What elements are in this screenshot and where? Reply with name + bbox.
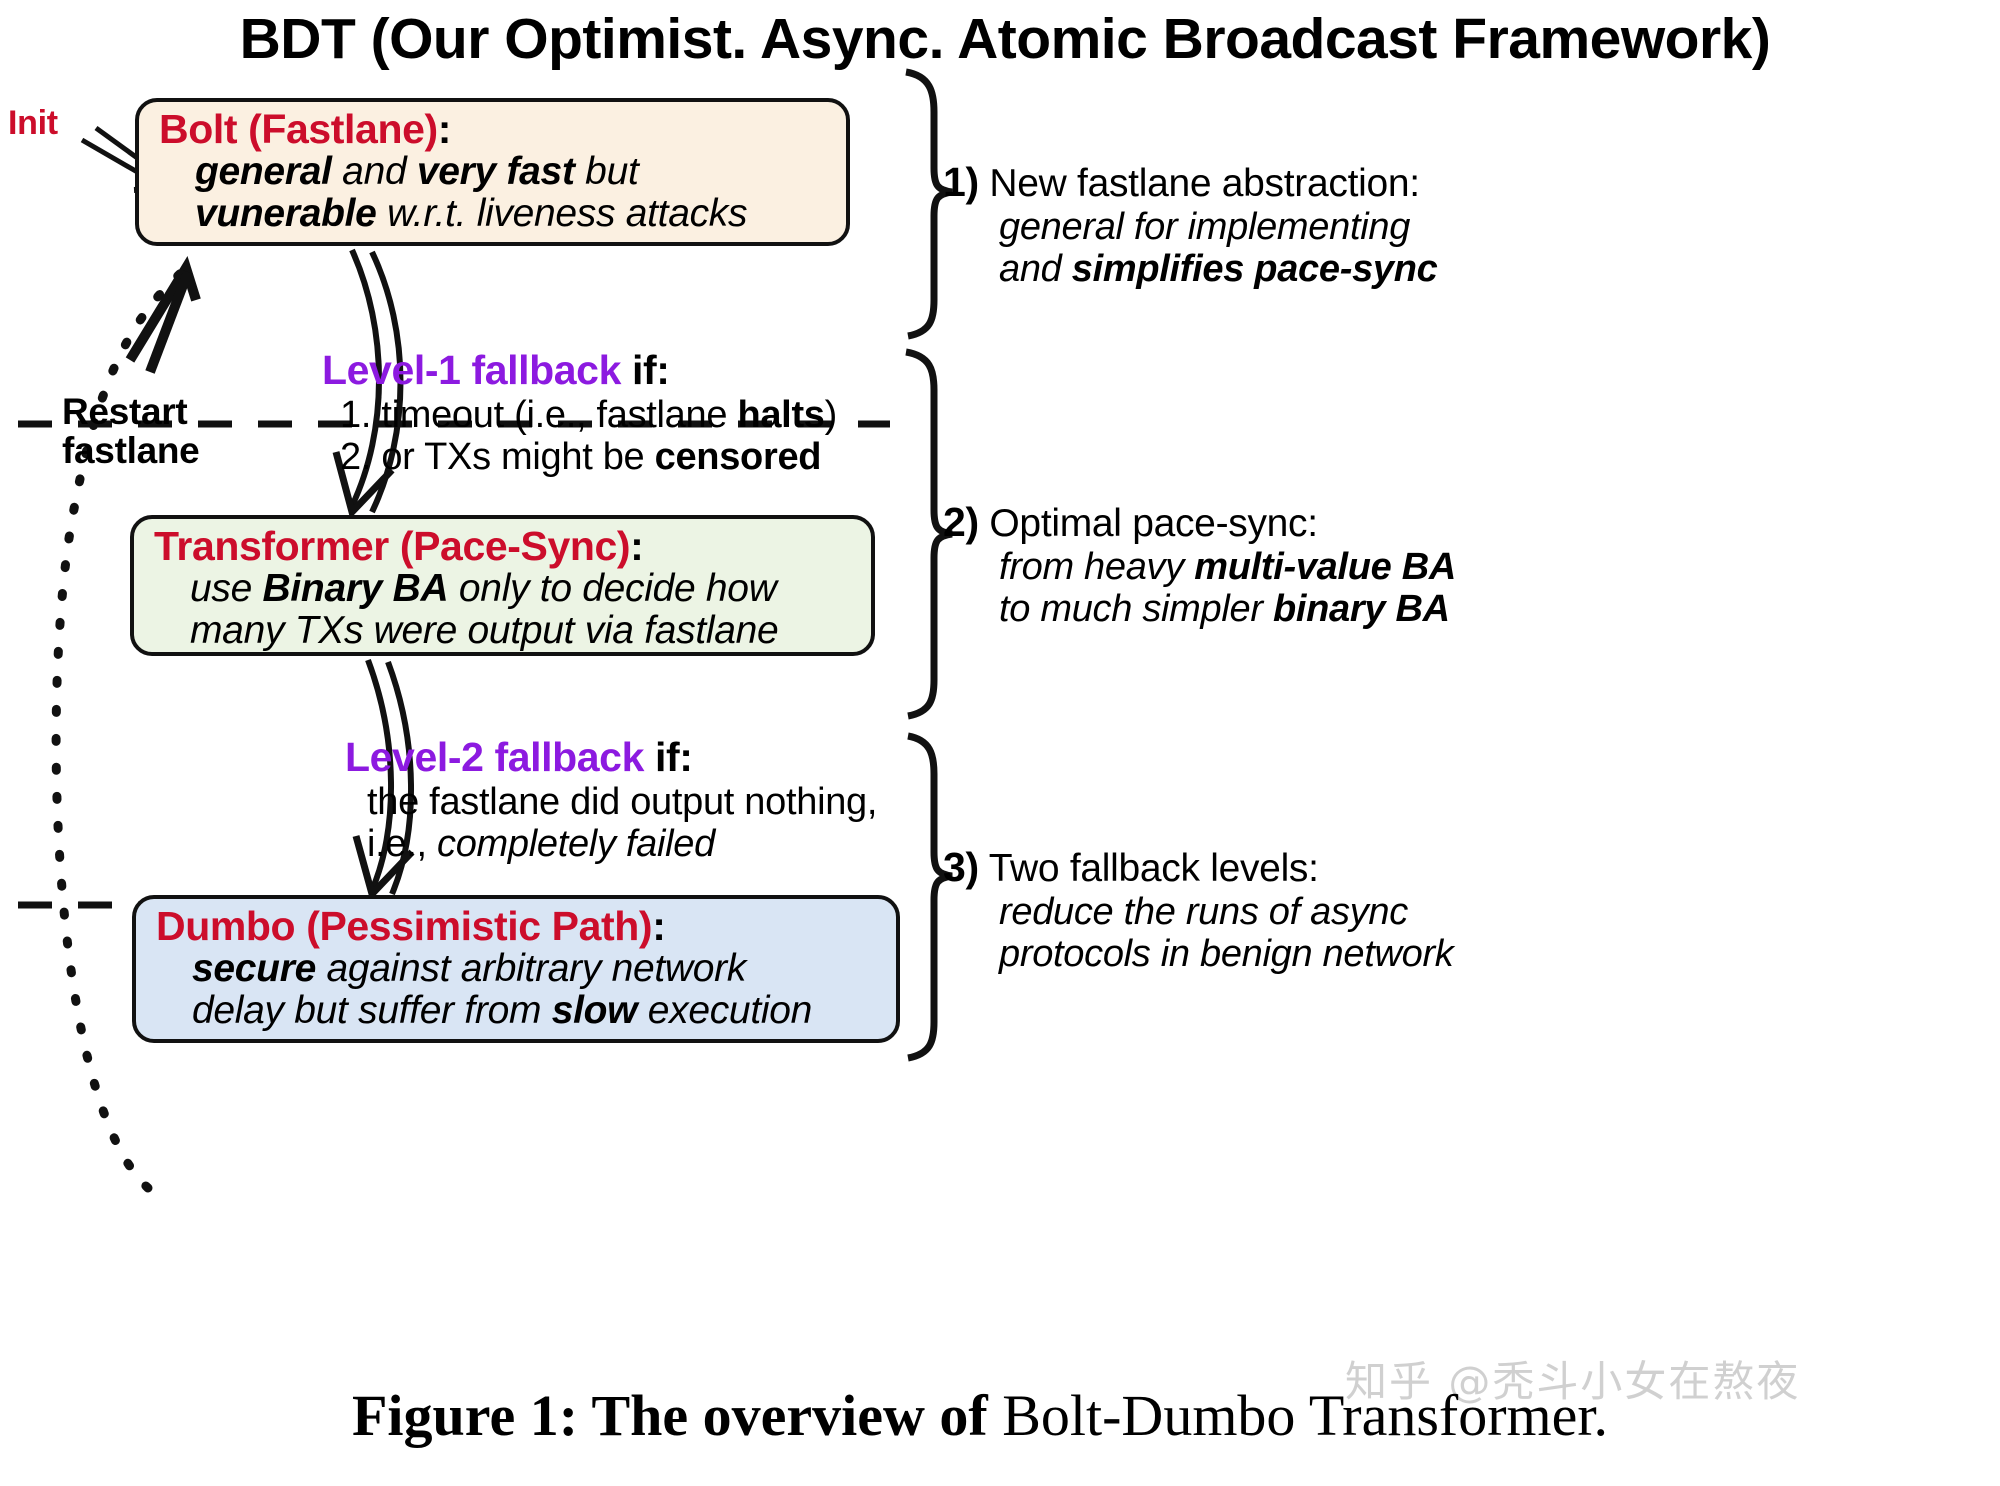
contribution-3-line-2: protocols in benign network: [943, 933, 1454, 976]
figure-canvas: BDT (Our Optimist. Async. Atomic Broadca…: [0, 0, 2000, 1486]
node-transformer-line2: many TXs were output via fastlane: [154, 610, 855, 651]
contribution-2-line-1: from heavy multi-value BA: [943, 546, 1456, 589]
node-dumbo-line2: delay but suffer from slow execution: [156, 990, 880, 1031]
contribution-3: 3) Two fallback levels: reduce the runs …: [943, 845, 1454, 976]
level-2-fallback-heading: Level-2 fallback if:: [345, 735, 877, 781]
restart-label-line2: fastlane: [62, 431, 199, 470]
node-bolt-line1: general and very fast but: [159, 151, 830, 192]
node-transformer-line1: use Binary BA only to decide how: [154, 568, 855, 609]
level-2-fallback-item-2: i.e., completely failed: [345, 823, 877, 866]
node-dumbo-title: Dumbo (Pessimistic Path):: [156, 905, 880, 948]
node-dumbo-line1: secure against arbitrary network: [156, 948, 880, 989]
init-label: Init: [8, 104, 58, 143]
figure-caption-bold: Figure 1: The overview of: [352, 1383, 1002, 1448]
node-bolt[interactable]: Bolt (Fastlane): general and very fast b…: [135, 98, 850, 246]
contribution-1-line-2: and simplifies pace-sync: [943, 248, 1438, 291]
node-transformer[interactable]: Transformer (Pace-Sync): use Binary BA o…: [130, 515, 875, 656]
contribution-2: 2) Optimal pace-sync: from heavy multi-v…: [943, 500, 1456, 631]
level-2-fallback-item-1: the fastlane did output nothing,: [345, 781, 877, 824]
level-1-fallback-heading: Level-1 fallback if:: [322, 348, 837, 394]
contribution-1: 1) New fastlane abstraction: general for…: [943, 160, 1438, 291]
level-2-fallback-block: Level-2 fallback if: the fastlane did ou…: [345, 735, 877, 866]
level-1-fallback-item-2: 2. or TXs might be censored: [322, 436, 837, 479]
level-1-fallback-block: Level-1 fallback if: 1. timeout (i.e., f…: [322, 348, 837, 479]
figure-caption-rest: Bolt-Dumbo Transformer.: [1002, 1383, 1608, 1448]
node-bolt-title: Bolt (Fastlane):: [159, 108, 830, 151]
contribution-2-heading: 2) Optimal pace-sync:: [943, 500, 1456, 546]
contribution-3-heading: 3) Two fallback levels:: [943, 845, 1454, 891]
contribution-1-heading: 1) New fastlane abstraction:: [943, 160, 1438, 206]
restart-fastlane-label: Restart fastlane: [62, 392, 199, 470]
contribution-3-line-1: reduce the runs of async: [943, 891, 1454, 934]
restart-label-line1: Restart: [62, 392, 199, 431]
contribution-2-line-2: to much simpler binary BA: [943, 588, 1456, 631]
page-title: BDT (Our Optimist. Async. Atomic Broadca…: [50, 6, 1960, 72]
node-transformer-title: Transformer (Pace-Sync):: [154, 525, 855, 568]
contribution-1-line-1: general for implementing: [943, 206, 1438, 249]
level-1-fallback-item-1: 1. timeout (i.e., fastlane halts): [322, 394, 837, 437]
node-bolt-line2: vunerable w.r.t. liveness attacks: [159, 193, 830, 234]
figure-caption: Figure 1: The overview of Bolt-Dumbo Tra…: [0, 1382, 1960, 1449]
node-dumbo[interactable]: Dumbo (Pessimistic Path): secure against…: [132, 895, 900, 1043]
